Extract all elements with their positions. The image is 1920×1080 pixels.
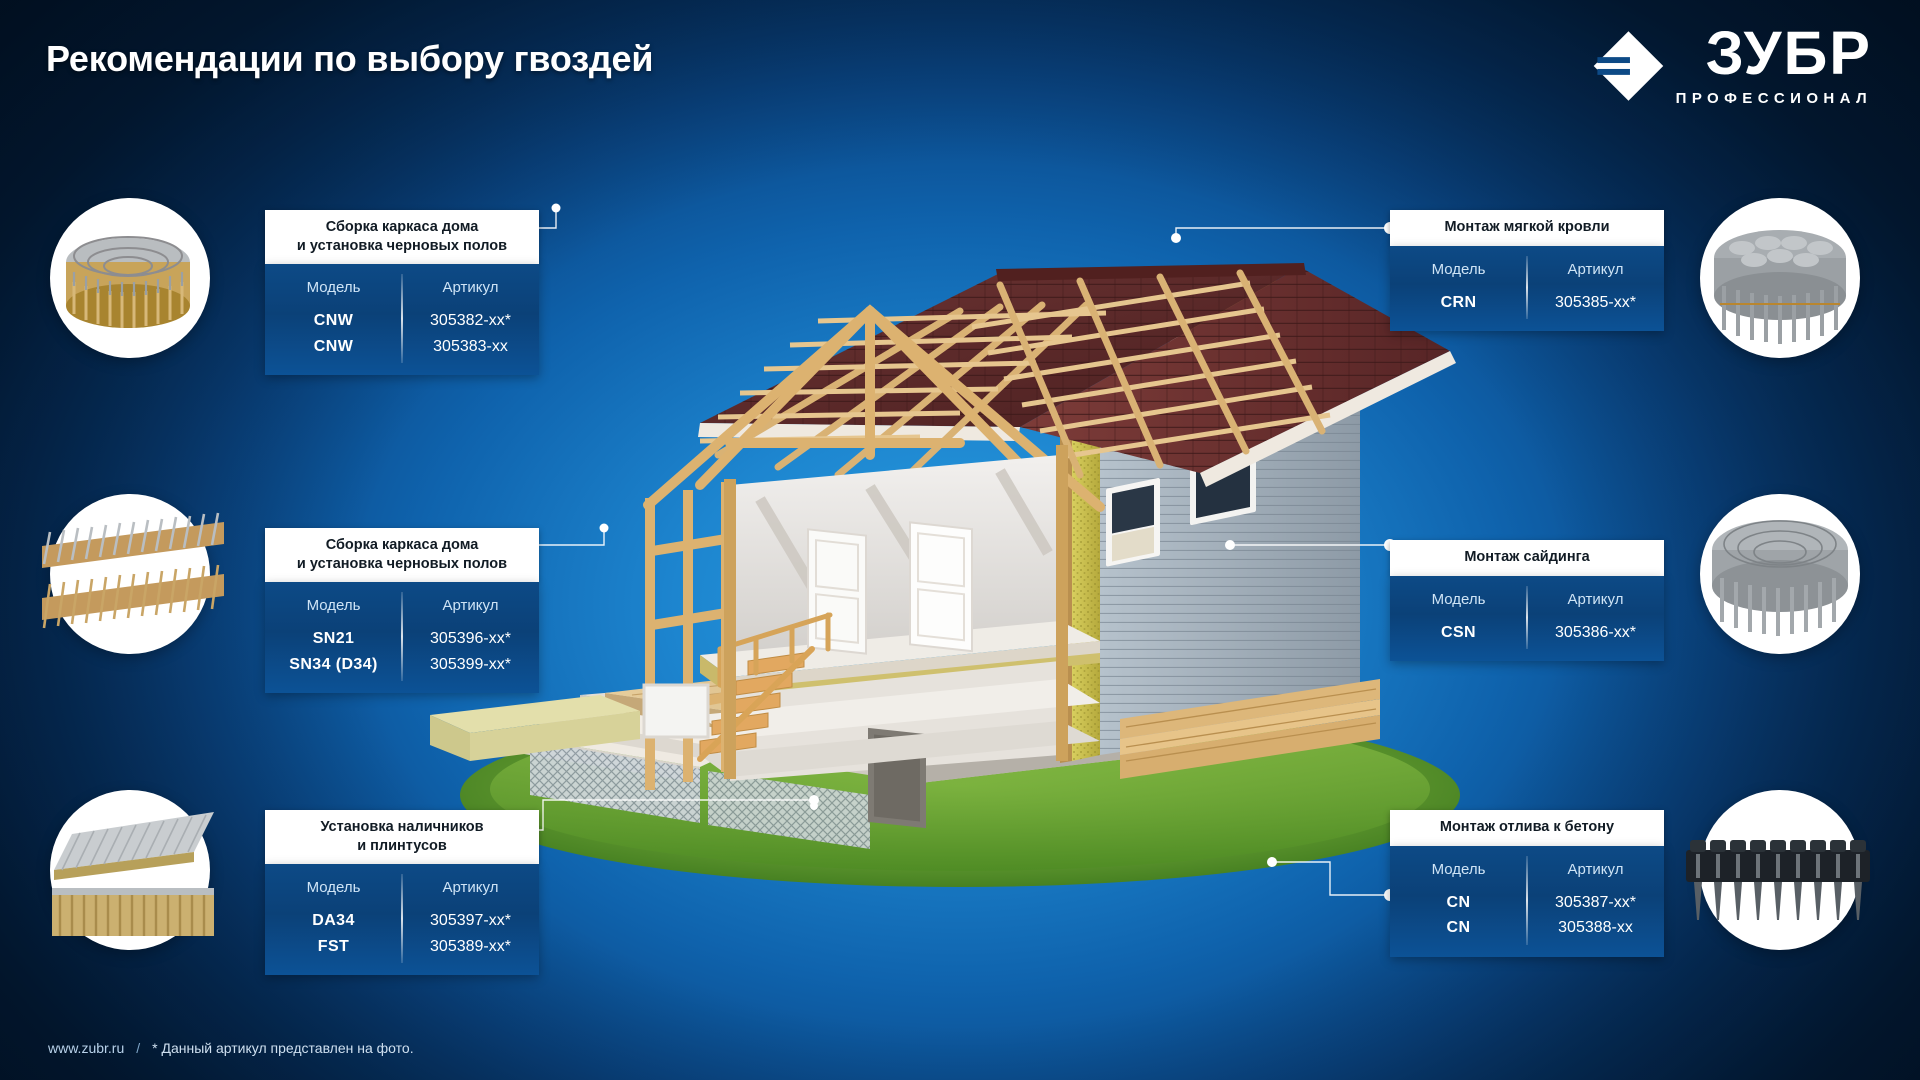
page-title: Рекомендации по выбору гвоздей <box>46 38 653 80</box>
cell-article: 305388-xx <box>1527 915 1664 941</box>
finish-brad-nails-icon <box>28 778 232 962</box>
cell-model: SN34 (D34) <box>265 652 402 678</box>
table-header-row: Модель Артикул <box>1390 589 1664 620</box>
card-title: Установка наличников и плинтусов <box>265 810 539 864</box>
product-image-coil-nails-bright <box>50 198 210 358</box>
card-table: Модель Артикул CN 305387-xx* CN 305388-x… <box>1390 846 1664 957</box>
card-title-line2: и плинтусов <box>275 837 529 856</box>
cell-article: 305397-xx* <box>402 908 539 934</box>
table-header-row: Модель Артикул <box>1390 859 1664 890</box>
table-row: FST 305389-xx* <box>265 934 539 960</box>
table-header-row: Модель Артикул <box>265 277 539 308</box>
cell-model: SN21 <box>265 626 402 652</box>
zubr-rhombus-icon <box>1590 29 1664 103</box>
footer-site-link[interactable]: www.zubr.ru <box>48 1040 124 1056</box>
column-header-article: Артикул <box>1527 859 1664 890</box>
card-title-line2: и установка черновых полов <box>275 555 529 574</box>
cell-article: 305383-xx <box>402 334 539 360</box>
card-title: Монтаж сайдинга <box>1390 540 1664 576</box>
column-header-article: Артикул <box>402 877 539 908</box>
column-header-model: Модель <box>265 877 402 908</box>
table-header-row: Модель Артикул <box>265 877 539 908</box>
cell-article: 305382-xx* <box>402 308 539 334</box>
footer: www.zubr.ru / * Данный артикул представл… <box>48 1040 414 1056</box>
table-row: CSN 305386-xx* <box>1390 620 1664 646</box>
card-title-line1: Монтаж отлива к бетону <box>1400 818 1654 837</box>
product-image-siding-coil-nails <box>1700 494 1860 654</box>
product-image-concrete-pins <box>1700 790 1860 950</box>
column-header-model: Модель <box>1390 259 1527 290</box>
card-title: Монтаж мягкой кровли <box>1390 210 1664 246</box>
card-title: Сборка каркаса дома и установка черновых… <box>265 528 539 582</box>
info-card-siding[interactable]: Монтаж сайдинга Модель Артикул CSN 30538… <box>1390 540 1664 661</box>
card-title-line1: Монтаж сайдинга <box>1400 548 1654 567</box>
info-card-frame-assembly-strip[interactable]: Сборка каркаса дома и установка черновых… <box>265 528 539 693</box>
column-header-model: Модель <box>1390 859 1527 890</box>
table-row: SN34 (D34) 305399-xx* <box>265 652 539 678</box>
product-image-strip-nails <box>50 494 210 654</box>
footer-note: * Данный артикул представлен на фото. <box>152 1040 413 1056</box>
table-row: SN21 305396-xx* <box>265 626 539 652</box>
cutaway-house-illustration <box>400 155 1540 895</box>
footer-separator: / <box>136 1040 140 1056</box>
roofing-coil-nails-icon <box>1678 186 1882 370</box>
column-header-model: Модель <box>265 595 402 626</box>
card-table: Модель Артикул CNW 305382-xx* CNW 305383… <box>265 264 539 375</box>
info-card-frame-assembly-coil[interactable]: Сборка каркаса дома и установка черновых… <box>265 210 539 375</box>
cell-model: CN <box>1390 915 1527 941</box>
infographic-canvas: Рекомендации по выбору гвоздей ЗУБР ПРОФ… <box>0 0 1920 1080</box>
column-header-model: Модель <box>1390 589 1527 620</box>
cell-model: CSN <box>1390 620 1527 646</box>
table-row: CN 305387-xx* <box>1390 890 1664 916</box>
cell-article: 305396-xx* <box>402 626 539 652</box>
card-title-line1: Монтаж мягкой кровли <box>1400 218 1654 237</box>
cell-model: DA34 <box>265 908 402 934</box>
logo-wordmark: ЗУБР <box>1706 25 1872 83</box>
logo-tagline: ПРОФЕССИОНАЛ <box>1676 90 1872 107</box>
coil-nails-bright-icon <box>28 186 232 370</box>
card-table: Модель Артикул DA34 305397-xx* FST 30538… <box>265 864 539 975</box>
card-title-line2: и установка черновых полов <box>275 237 529 256</box>
column-header-article: Артикул <box>402 277 539 308</box>
cell-article: 305399-xx* <box>402 652 539 678</box>
table-header-row: Модель Артикул <box>1390 259 1664 290</box>
card-title-line1: Установка наличников <box>275 818 529 837</box>
product-image-roofing-coil-nails <box>1700 198 1860 358</box>
cell-model: CN <box>1390 890 1527 916</box>
cell-article: 305387-xx* <box>1527 890 1664 916</box>
card-table: Модель Артикул SN21 305396-xx* SN34 (D34… <box>265 582 539 693</box>
column-header-article: Артикул <box>402 595 539 626</box>
cell-article: 305386-xx* <box>1527 620 1664 646</box>
cell-article: 305385-xx* <box>1527 290 1664 316</box>
card-title: Монтаж отлива к бетону <box>1390 810 1664 846</box>
table-row: CRN 305385-xx* <box>1390 290 1664 316</box>
card-title: Сборка каркаса дома и установка черновых… <box>265 210 539 264</box>
info-card-casing-baseboard[interactable]: Установка наличников и плинтусов Модель … <box>265 810 539 975</box>
card-table: Модель Артикул CRN 305385-xx* <box>1390 246 1664 332</box>
column-header-article: Артикул <box>1527 589 1664 620</box>
table-row: CN 305388-xx <box>1390 915 1664 941</box>
table-row: CNW 305383-xx <box>265 334 539 360</box>
siding-coil-nails-icon <box>1678 482 1882 666</box>
cell-model: FST <box>265 934 402 960</box>
concrete-pins-icon <box>1678 778 1882 962</box>
info-card-soft-roofing[interactable]: Монтаж мягкой кровли Модель Артикул CRN … <box>1390 210 1664 331</box>
card-title-line1: Сборка каркаса дома <box>275 218 529 237</box>
cell-model: CNW <box>265 308 402 334</box>
cell-model: CRN <box>1390 290 1527 316</box>
column-header-model: Модель <box>265 277 402 308</box>
table-header-row: Модель Артикул <box>265 595 539 626</box>
brand-logo: ЗУБР ПРОФЕССИОНАЛ <box>1590 25 1872 107</box>
cell-model: CNW <box>265 334 402 360</box>
strip-nails-icon <box>28 482 232 666</box>
column-header-article: Артикул <box>1527 259 1664 290</box>
product-image-finish-brad-nails <box>50 790 210 950</box>
info-card-drip-to-concrete[interactable]: Монтаж отлива к бетону Модель Артикул CN… <box>1390 810 1664 957</box>
card-table: Модель Артикул CSN 305386-xx* <box>1390 576 1664 662</box>
table-row: DA34 305397-xx* <box>265 908 539 934</box>
cell-article: 305389-xx* <box>402 934 539 960</box>
card-title-line1: Сборка каркаса дома <box>275 536 529 555</box>
table-row: CNW 305382-xx* <box>265 308 539 334</box>
